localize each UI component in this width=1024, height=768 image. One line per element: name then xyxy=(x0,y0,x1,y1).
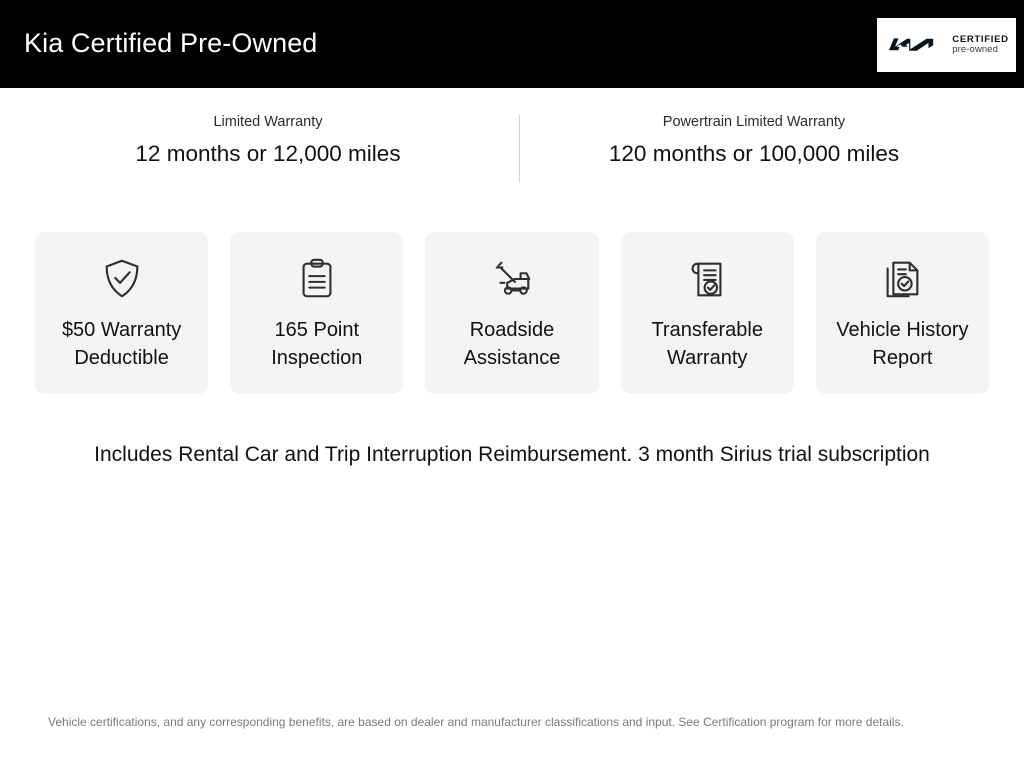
legal-disclaimer: Vehicle certifications, and any correspo… xyxy=(48,713,984,731)
feature-card-label: Roadside Assistance xyxy=(460,316,565,372)
page-title: Kia Certified Pre-Owned xyxy=(24,28,317,59)
certificate-check-icon xyxy=(684,256,730,302)
documents-check-icon xyxy=(879,256,925,302)
kia-certified-preowned-logo: CERTIFIED pre-owned xyxy=(877,18,1016,72)
logo-preowned-label: pre-owned xyxy=(952,45,998,55)
clipboard-icon xyxy=(294,256,340,302)
page-header: Kia Certified Pre-Owned CERTIFIED pre-ow… xyxy=(0,0,1024,88)
warranty-item-powertrain: Powertrain Limited Warranty 120 months o… xyxy=(530,112,978,168)
warranty-summary: Limited Warranty 12 months or 12,000 mil… xyxy=(0,112,1024,192)
feature-card-warranty-deductible[interactable]: $50 Warranty Deductible xyxy=(35,232,208,394)
warranty-value: 120 months or 100,000 miles xyxy=(530,140,978,168)
tow-truck-icon xyxy=(489,256,535,302)
feature-card-label: $50 Warranty Deductible xyxy=(58,316,185,372)
feature-card-roadside-assistance[interactable]: Roadside Assistance xyxy=(425,232,598,394)
warranty-value: 12 months or 12,000 miles xyxy=(28,140,508,168)
feature-card-label: 165 Point Inspection xyxy=(267,316,366,372)
kia-wordmark-icon xyxy=(884,36,938,54)
warranty-label: Limited Warranty xyxy=(28,112,508,132)
feature-card-point-inspection[interactable]: 165 Point Inspection xyxy=(230,232,403,394)
warranty-divider xyxy=(519,115,520,183)
feature-card-transferable-warranty[interactable]: Transferable Warranty xyxy=(621,232,794,394)
program-description: Includes Rental Car and Trip Interruptio… xyxy=(0,440,1024,470)
logo-text-block: CERTIFIED pre-owned xyxy=(952,35,1008,55)
feature-card-vehicle-history-report[interactable]: Vehicle History Report xyxy=(816,232,989,394)
feature-card-label: Transferable Warranty xyxy=(647,316,767,372)
warranty-item-limited: Limited Warranty 12 months or 12,000 mil… xyxy=(28,112,508,168)
shield-check-icon xyxy=(99,256,145,302)
warranty-label: Powertrain Limited Warranty xyxy=(530,112,978,132)
feature-card-label: Vehicle History Report xyxy=(832,316,972,372)
feature-cards: $50 Warranty Deductible 165 Point Inspec… xyxy=(35,232,989,394)
